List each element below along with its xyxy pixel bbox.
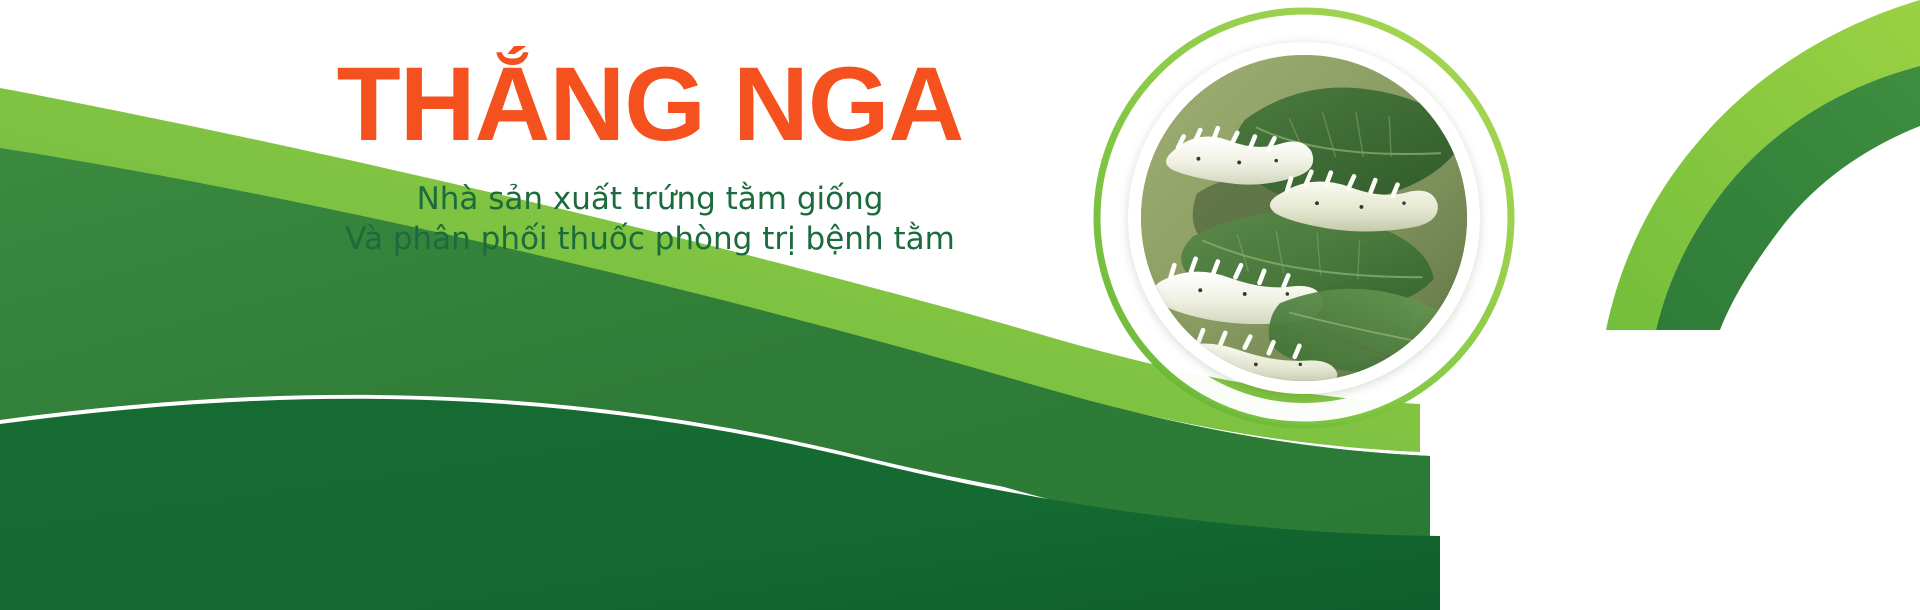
silkworms-on-mulberry-leaves-illustration [1141, 55, 1467, 381]
hero-photo-circle [1128, 42, 1480, 394]
photo-ring-graphic [0, 0, 1920, 610]
hero-photo-disc [1141, 55, 1467, 381]
promo-banner: THẮNG NGA Nhà sản xuất trứng tằm giống V… [0, 0, 1920, 610]
